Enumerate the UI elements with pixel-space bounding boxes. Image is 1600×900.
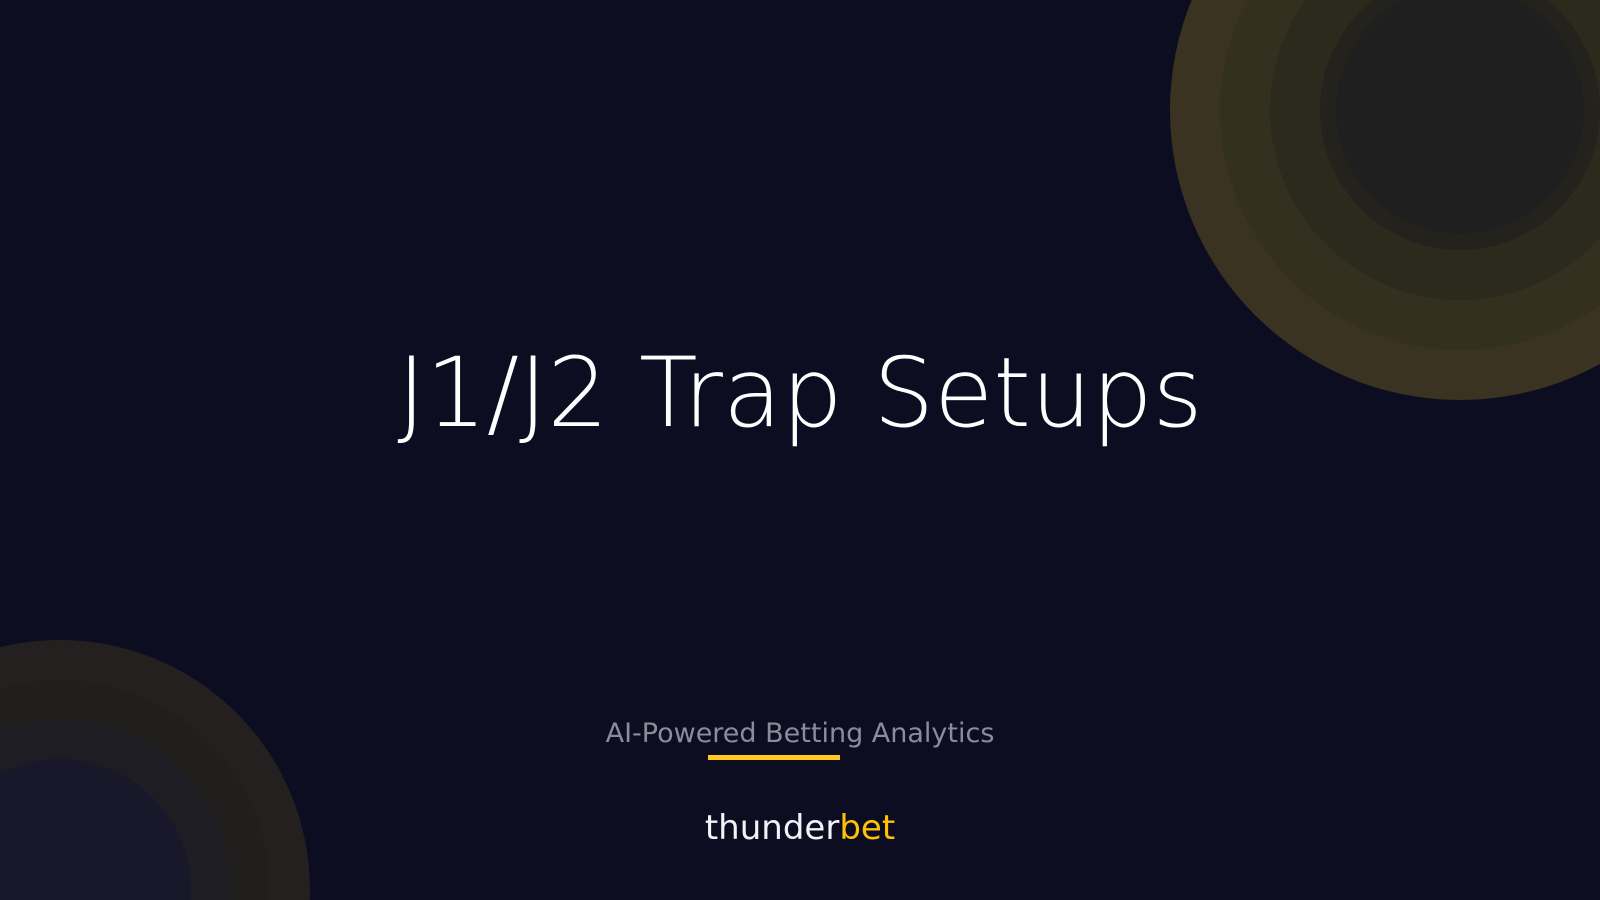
brand-logo-accent: bet (839, 808, 895, 848)
ring-outer-icon (0, 640, 310, 900)
logo-container: thunderbet (0, 806, 1600, 850)
subtitle-container: AI-Powered Betting Analytics (0, 716, 1600, 751)
title-slide: J1/J2 Trap Setups AI-Powered Betting Ana… (0, 0, 1600, 900)
ring-second-icon (1220, 0, 1600, 350)
brand-logo-primary: thunder (705, 808, 839, 848)
ring-third-icon (1270, 0, 1600, 300)
ring-fourth-icon (1320, 0, 1600, 250)
subtitle: AI-Powered Betting Analytics (606, 716, 995, 751)
brand-logo: thunderbet (705, 806, 895, 850)
ring-inner-icon (1336, 0, 1584, 234)
title-container: J1/J2 Trap Setups (0, 340, 1600, 448)
subtitle-text: AI-Powered Betting Analytics (606, 718, 995, 749)
page-title: J1/J2 Trap Setups (0, 340, 1600, 448)
subtitle-underline-accent (708, 755, 840, 760)
ring-second-icon (0, 680, 270, 900)
